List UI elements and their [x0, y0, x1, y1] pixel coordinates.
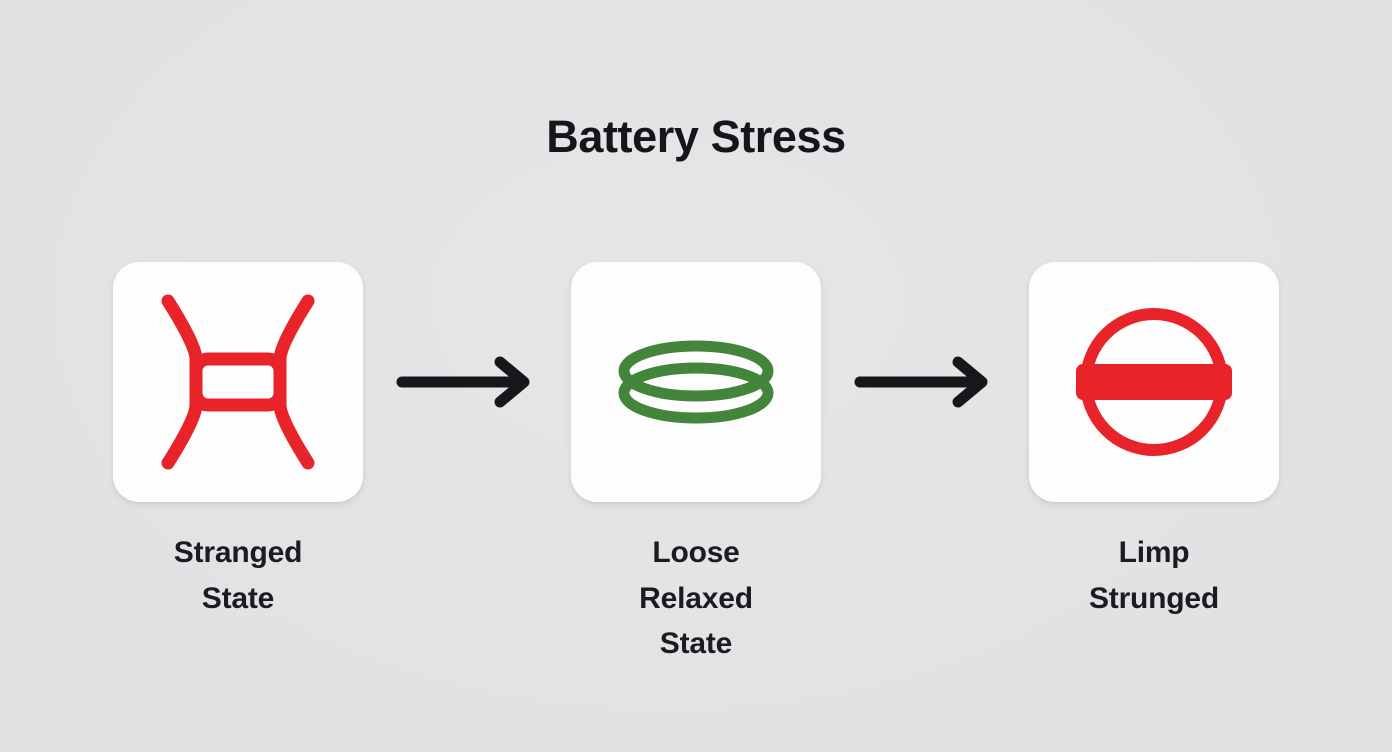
step-label-3: Limp Strunged [1089, 530, 1219, 621]
arrow-right-icon [854, 356, 996, 408]
page-title: Battery Stress [0, 114, 1392, 159]
diagram-canvas: Battery Stress [0, 0, 1392, 752]
stretched-band-icon [138, 287, 338, 477]
flow-step-3[interactable]: Limp Strunged [1028, 262, 1280, 621]
icon-card-3[interactable] [1029, 262, 1279, 502]
arrow-right-icon [396, 356, 538, 408]
process-flow: Stranged State [0, 262, 1392, 682]
coiled-rings-icon [596, 287, 796, 477]
flow-connector-2 [822, 262, 1028, 502]
flow-connector-1 [364, 262, 570, 502]
flow-step-2[interactable]: Loose Relaxed State [570, 262, 822, 667]
icon-card-2[interactable] [571, 262, 821, 502]
flow-step-1[interactable]: Stranged State [112, 262, 364, 621]
circle-bar-icon [1054, 287, 1254, 477]
step-label-2: Loose Relaxed State [639, 530, 753, 667]
icon-card-1[interactable] [113, 262, 363, 502]
step-label-1: Stranged State [174, 530, 302, 621]
